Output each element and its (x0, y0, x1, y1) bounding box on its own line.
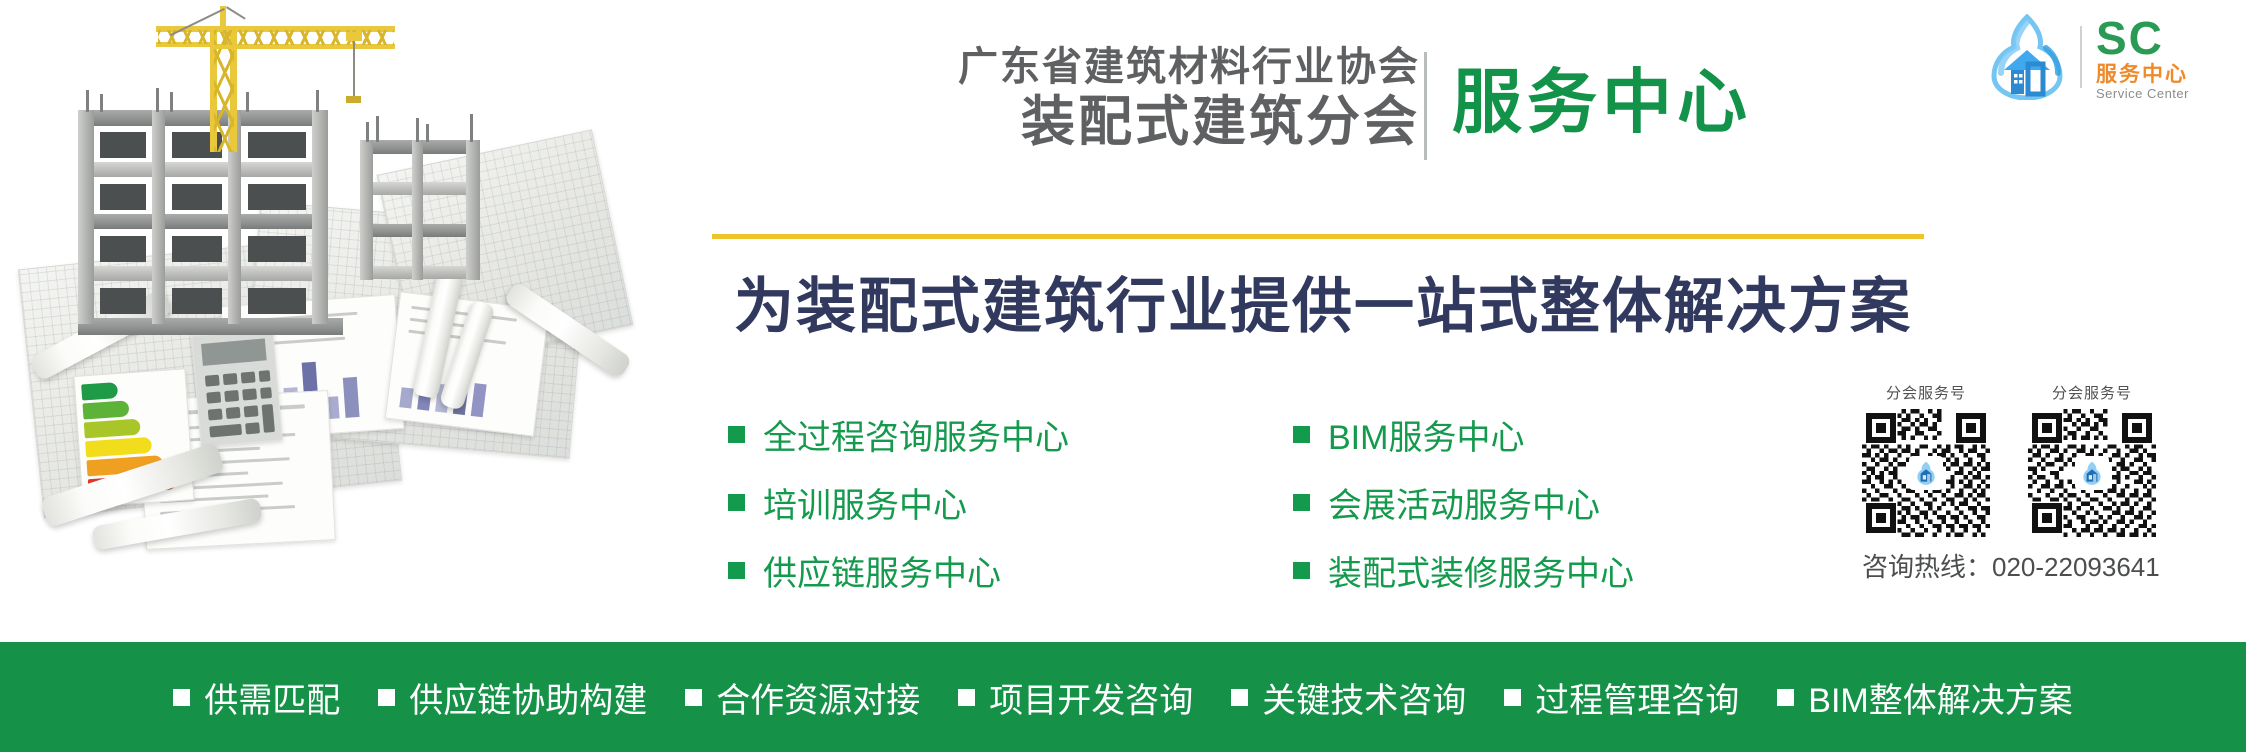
list-item[interactable]: 全过程咨询服务中心 (728, 400, 1069, 468)
bottom-bar-item[interactable]: 供需匹配 (173, 673, 340, 722)
square-bullet-icon (1231, 689, 1248, 706)
logo-chinese-name: 服务中心 (2096, 64, 2189, 85)
square-bullet-icon (685, 689, 702, 706)
qr-embedded-logo (2075, 456, 2109, 490)
square-bullet-icon (728, 426, 745, 443)
list-item-label: BIM服务中心 (1328, 410, 1524, 459)
organization-name-block: 广东省建筑材料行业协会 装配式建筑分会 (840, 44, 1420, 152)
square-bullet-icon (1293, 426, 1310, 443)
list-item-label: 培训服务中心 (763, 478, 967, 527)
bottom-bar-item[interactable]: BIM整体解决方案 (1777, 673, 2072, 722)
square-bullet-icon (728, 562, 745, 579)
list-item[interactable]: 装配式装修服务中心 (1293, 536, 1634, 604)
logo-divider (2080, 26, 2082, 88)
bottom-bar-item-label: 供需匹配 (204, 673, 340, 722)
square-bullet-icon (378, 689, 395, 706)
list-item-label: 全过程咨询服务中心 (763, 410, 1069, 459)
logo-initials: SC (2096, 15, 2189, 61)
qr-embedded-logo (1909, 456, 1943, 490)
bottom-bar-item-label: 合作资源对接 (716, 673, 920, 722)
square-bullet-icon (728, 494, 745, 511)
bottom-bar-item[interactable]: 项目开发咨询 (958, 673, 1193, 722)
construction-photo-collage (0, 0, 660, 640)
list-item[interactable]: 供应链服务中心 (728, 536, 1069, 604)
list-item-label: 供应链服务中心 (763, 546, 1001, 595)
square-bullet-icon (1293, 494, 1310, 511)
list-item[interactable]: 会展活动服务中心 (1293, 468, 1634, 536)
service-list-right: BIM服务中心 会展活动服务中心 装配式装修服务中心 (1293, 400, 1634, 604)
square-bullet-icon (173, 689, 190, 706)
hotline-text: 咨询热线：020-22093641 (1862, 547, 2202, 584)
service-center-title: 服务中心 (1452, 52, 1752, 154)
qr-code-cell: 分会服务号 (1862, 382, 1990, 537)
vertical-divider (1424, 52, 1427, 160)
bottom-bar-item[interactable]: 合作资源对接 (685, 673, 920, 722)
qr-contact-block: 分会服务号 (1862, 382, 2202, 584)
bottom-bar-item-label: 项目开发咨询 (989, 673, 1193, 722)
square-bullet-icon (1504, 689, 1521, 706)
org-name-line2: 装配式建筑分会 (840, 92, 1420, 152)
qr-code-label: 分会服务号 (2028, 382, 2156, 403)
qr-code-image[interactable] (1862, 409, 1990, 537)
qr-code-cell: 分会服务号 (2028, 382, 2156, 537)
page-title: 为装配式建筑行业提供一站式整体解决方案 (712, 258, 1934, 345)
house-flame-icon (2079, 460, 2105, 486)
square-bullet-icon (1777, 689, 1794, 706)
qr-code-image[interactable] (2028, 409, 2156, 537)
tower-crane (150, 8, 400, 158)
house-flame-icon (1988, 14, 2066, 100)
bottom-bar-item[interactable]: 关键技术咨询 (1231, 673, 1466, 722)
house-flame-icon (1913, 460, 1939, 486)
bottom-bar-item-label: 关键技术咨询 (1262, 673, 1466, 722)
square-bullet-icon (958, 689, 975, 706)
bottom-bar-item[interactable]: 过程管理咨询 (1504, 673, 1739, 722)
bottom-feature-bar: 供需匹配 供应链协助构建 合作资源对接 项目开发咨询 关键技术咨询 过程管理咨询… (0, 642, 2246, 752)
list-item[interactable]: 培训服务中心 (728, 468, 1069, 536)
yellow-divider-rule (712, 234, 1924, 239)
bottom-bar-item-label: 供应链协助构建 (409, 673, 647, 722)
bottom-bar-item-label: BIM整体解决方案 (1808, 673, 2072, 722)
qr-code-label: 分会服务号 (1862, 382, 1990, 403)
list-item-label: 会展活动服务中心 (1328, 478, 1600, 527)
list-item-label: 装配式装修服务中心 (1328, 546, 1634, 595)
org-name-line1: 广东省建筑材料行业协会 (840, 44, 1420, 90)
bottom-bar-item-label: 过程管理咨询 (1535, 673, 1739, 722)
service-list-left: 全过程咨询服务中心 培训服务中心 供应链服务中心 (728, 400, 1069, 604)
logo-english-name: Service Center (2096, 87, 2189, 100)
list-item[interactable]: BIM服务中心 (1293, 400, 1634, 468)
bottom-bar-item[interactable]: 供应链协助构建 (378, 673, 647, 722)
brand-logo: SC 服务中心 Service Center (1988, 14, 2189, 100)
square-bullet-icon (1293, 562, 1310, 579)
promotional-banner: 广东省建筑材料行业协会 装配式建筑分会 服务中心 为装配式建筑行业提供一站式整体… (0, 0, 2246, 752)
